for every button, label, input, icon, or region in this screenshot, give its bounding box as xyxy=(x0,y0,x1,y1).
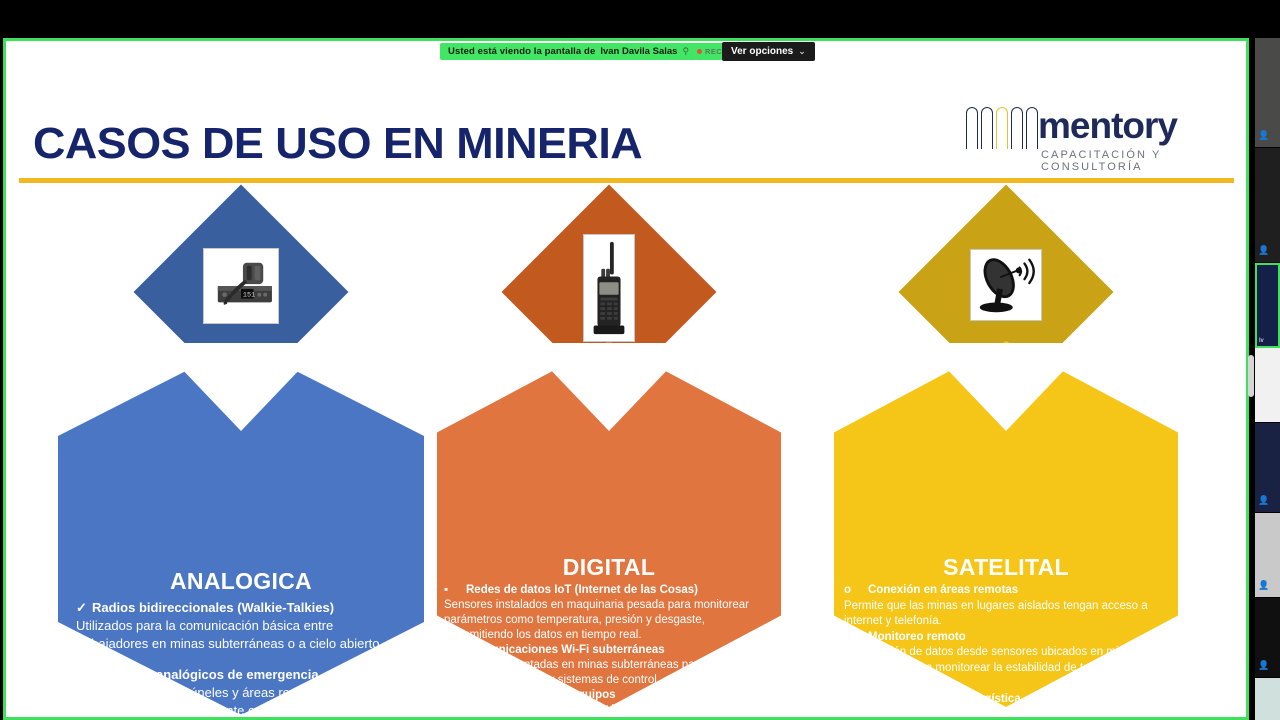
bullet-item: oGestión de flotas y logística Uso de si… xyxy=(844,692,1168,720)
mobile-radio-icon: 151 xyxy=(203,248,279,324)
bullet-item: ▪Comunicaciones Wi-Fi subterráneas Redes… xyxy=(444,643,774,688)
column-digital: DIGITAL ▪Redes de datos IoT (Internet de… xyxy=(424,216,794,716)
pin-icon: ⚲ xyxy=(682,46,689,57)
satellite-dish-icon xyxy=(970,249,1042,321)
column-satelital: SATELITAL oConexión en áreas remotas Per… xyxy=(821,216,1191,716)
avatar: 👤 xyxy=(1258,580,1269,591)
logo-tagline: CAPACITACIÓN Y CONSULTORÍA xyxy=(1041,149,1221,173)
recording-label: REC xyxy=(705,47,722,56)
avatar: 👤 xyxy=(1258,130,1269,141)
logo-bars-icon xyxy=(966,107,1038,149)
screen-share-notice: Usted está viendo la pantalla de Ivan Da… xyxy=(440,43,730,60)
bullet-title: ✓Radios bidireccionales (Walkie-Talkies) xyxy=(76,599,406,617)
presenter-name: Ivan Davila Salas xyxy=(600,46,677,57)
bullet-title: ▪Comunicaciones Wi-Fi subterráneas xyxy=(444,643,774,658)
screen: Usted está viendo la pantalla de Ivan Da… xyxy=(0,0,1280,720)
bullet-list-satelital: oConexión en áreas remotas Permite que l… xyxy=(834,583,1178,720)
participant-tile[interactable] xyxy=(1255,678,1280,720)
content-analogica: ANALOGICA ✓Radios bidireccionales (Walki… xyxy=(56,568,426,720)
bullet-item: oConexión en áreas remotas Permite que l… xyxy=(844,583,1168,630)
bullet-body: Uso de sistemas satelitales como GPS par… xyxy=(844,707,1168,720)
bullet-body: Comunicación entre equipos autónomos, co… xyxy=(444,703,774,720)
check-icon: ✓ xyxy=(76,599,92,617)
circle-bullet-icon: o xyxy=(844,692,868,708)
scrollbar-thumb[interactable] xyxy=(1248,355,1254,397)
bullet-body: Permite que las minas en lugares aislado… xyxy=(844,599,1168,630)
bullet-body: Sensores instalados en maquinaria pesada… xyxy=(444,598,774,643)
participant-tile[interactable]: 👤 xyxy=(1255,148,1280,263)
participant-tile[interactable]: 👤 xyxy=(1255,423,1280,513)
participant-name: Iv xyxy=(1259,338,1264,344)
bullet-title: ▪Redes de datos IoT (Internet de las Cos… xyxy=(444,583,774,598)
mentory-logo: mentory CAPACITACIÓN Y CONSULTORÍA xyxy=(966,103,1221,165)
avatar: 👤 xyxy=(1258,245,1269,256)
bullet-title: oConexión en áreas remotas xyxy=(844,583,1168,599)
participant-tile[interactable]: 👤 xyxy=(1255,513,1280,598)
participant-tile[interactable]: 👤 xyxy=(1255,598,1280,678)
svg-text:151: 151 xyxy=(243,292,255,300)
bullet-title: oMonitoreo remoto xyxy=(844,630,1168,646)
content-satelital: SATELITAL oConexión en áreas remotas Per… xyxy=(834,554,1178,720)
bullet-item: ▪Redes de datos IoT (Internet de las Cos… xyxy=(444,583,774,643)
heading-satelital: SATELITAL xyxy=(834,554,1178,581)
square-bullet-icon: ▪ xyxy=(444,583,466,598)
bullet-body: Transmisión de datos desde sensores ubic… xyxy=(844,645,1168,692)
heading-digital: DIGITAL xyxy=(437,554,781,581)
bullet-body: Utilizados para la comunicación básica e… xyxy=(76,617,406,653)
avatar: 👤 xyxy=(1258,495,1269,506)
bullet-list-digital: ▪Redes de datos IoT (Internet de las Cos… xyxy=(437,583,781,720)
title-underline xyxy=(19,178,1234,183)
column-analogica: 151 ANALOGICA xyxy=(56,216,426,716)
bullet-title: ✓Teléfonos analógicos de emergencia xyxy=(76,666,406,684)
participant-tile-active[interactable]: Iv xyxy=(1255,263,1280,348)
logo-wordmark: mentory xyxy=(1038,103,1177,149)
participant-tile[interactable] xyxy=(1255,348,1280,423)
bullet-title: oGestión de flotas y logística xyxy=(844,692,1168,708)
bullet-item: ▪Automatización de equipos Comunicación … xyxy=(444,688,774,720)
recording-dot-icon xyxy=(697,49,702,54)
heading-analogica: ANALOGICA xyxy=(56,568,426,595)
share-notice-text: Usted está viendo la pantalla de xyxy=(448,46,595,57)
chevron-down-icon: ⌄ xyxy=(798,47,806,56)
bullet-body: Redes implementadas en minas subterránea… xyxy=(444,658,774,688)
square-bullet-icon: ▪ xyxy=(444,688,466,703)
view-options-label: Ver opciones xyxy=(731,46,793,57)
page-title: CASOS DE USO EN MINERIA xyxy=(33,119,642,169)
bullet-item: oMonitoreo remoto Transmisión de datos d… xyxy=(844,630,1168,692)
meeting-top-bar xyxy=(0,0,1280,38)
circle-bullet-icon: o xyxy=(844,583,868,599)
handheld-radio-icon xyxy=(583,234,635,342)
presentation-slide: CASOS DE USO EN MINERIA mentory CAPACITA… xyxy=(6,41,1246,717)
content-digital: DIGITAL ▪Redes de datos IoT (Internet de… xyxy=(437,554,781,720)
bullet-title: ▪Automatización de equipos xyxy=(444,688,774,703)
participant-tile[interactable]: 👤 xyxy=(1255,38,1280,148)
avatar: 👤 xyxy=(1258,660,1269,671)
square-bullet-icon: ▪ xyxy=(444,643,466,658)
bullet-item: ✓Teléfonos analógicos de emergencia Impl… xyxy=(76,666,406,720)
bullet-item: ✓Radios bidireccionales (Walkie-Talkies)… xyxy=(76,599,406,653)
view-options-button[interactable]: Ver opciones ⌄ xyxy=(722,42,815,61)
bullet-body: Implementados en túneles y áreas remotas… xyxy=(76,684,406,720)
bullet-list-analogica: ✓Radios bidireccionales (Walkie-Talkies)… xyxy=(56,599,426,720)
check-icon: ✓ xyxy=(76,666,92,684)
circle-bullet-icon: o xyxy=(844,630,868,646)
shared-screen-frame: CASOS DE USO EN MINERIA mentory CAPACITA… xyxy=(3,38,1249,720)
participant-rail[interactable]: 👤 👤 Iv 👤 👤 👤 xyxy=(1255,38,1280,720)
